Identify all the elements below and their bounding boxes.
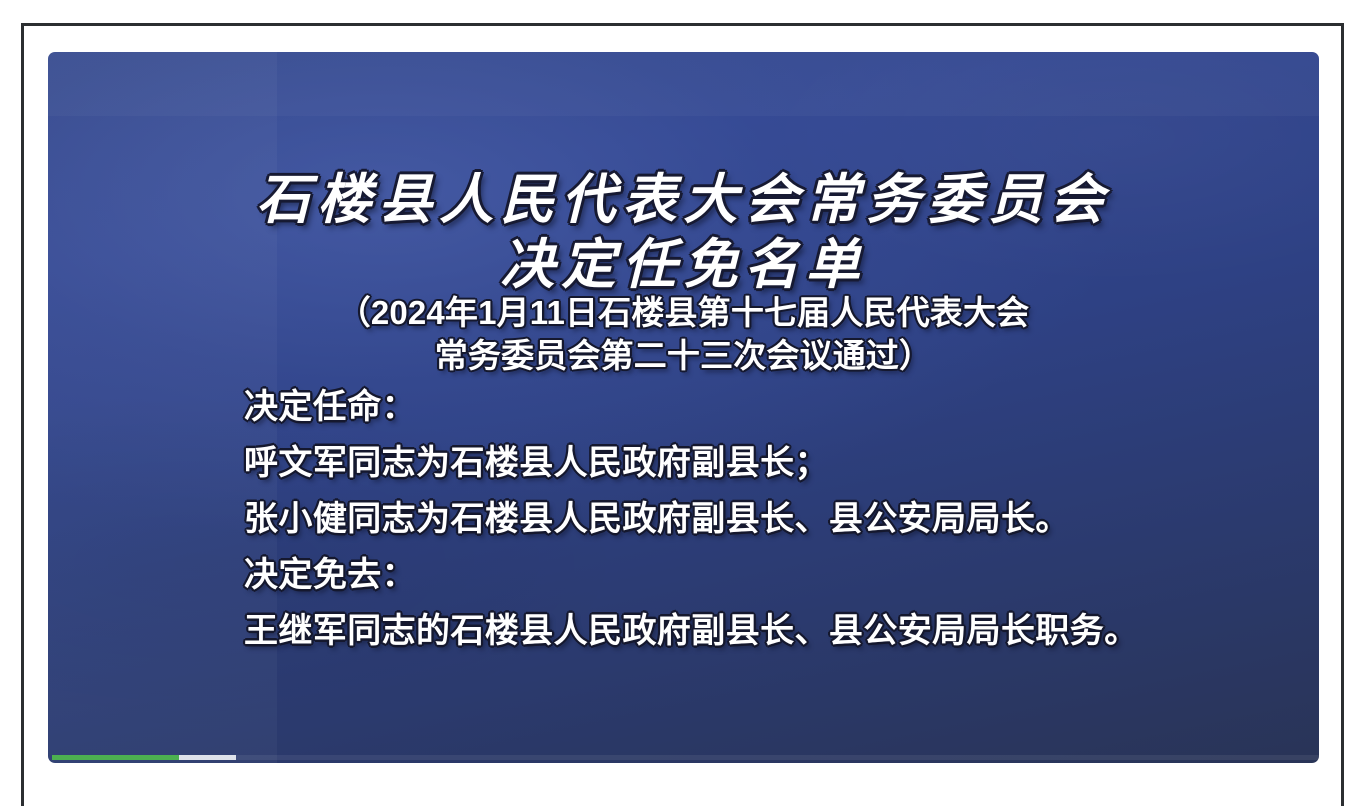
slide-body-block: 决定任命： 呼文军同志为石楼县人民政府副县长； 张小健同志为石楼县人民政府副县长… (244, 390, 1279, 648)
frame-rule-top (21, 23, 1343, 26)
slide-subtitle-line-2: 常务委员会第二十三次会议通过） (48, 335, 1319, 378)
body-line-appointee-2: 张小健同志为石楼县人民政府副县长、县公安局局长。 (244, 502, 1279, 536)
frame-rule-left (21, 23, 24, 806)
slide-subtitle: （2024年1月11日石楼县第十七届人民代表大会 常务委员会第二十三次会议通过） (48, 292, 1319, 378)
slide-subtitle-line-1: （2024年1月11日石楼县第十七届人民代表大会 (48, 292, 1319, 335)
video-progress-bar[interactable] (52, 755, 1319, 760)
body-line-appoint-heading: 决定任命： (244, 390, 1279, 424)
slide-heading-line-2: 决定任免名单 (48, 220, 1319, 299)
body-line-appointee-1: 呼文军同志为石楼县人民政府副县长； (244, 446, 1279, 480)
body-line-remove-heading: 决定免去： (244, 558, 1279, 592)
video-progress-played (52, 755, 179, 760)
slide-content: 石楼县人民代表大会常务委员会 决定任免名单 （2024年1月11日石楼县第十七届… (48, 52, 1319, 763)
body-line-removal-1: 王继军同志的石楼县人民政府副县长、县公安局局长职务。 (244, 614, 1279, 648)
frame-rule-right (1341, 23, 1344, 806)
video-slide-panel[interactable]: 石楼县人民代表大会常务委员会 决定任免名单 （2024年1月11日石楼县第十七届… (48, 52, 1319, 763)
page-root: 石楼县人民代表大会常务委员会 决定任免名单 （2024年1月11日石楼县第十七届… (0, 0, 1366, 806)
